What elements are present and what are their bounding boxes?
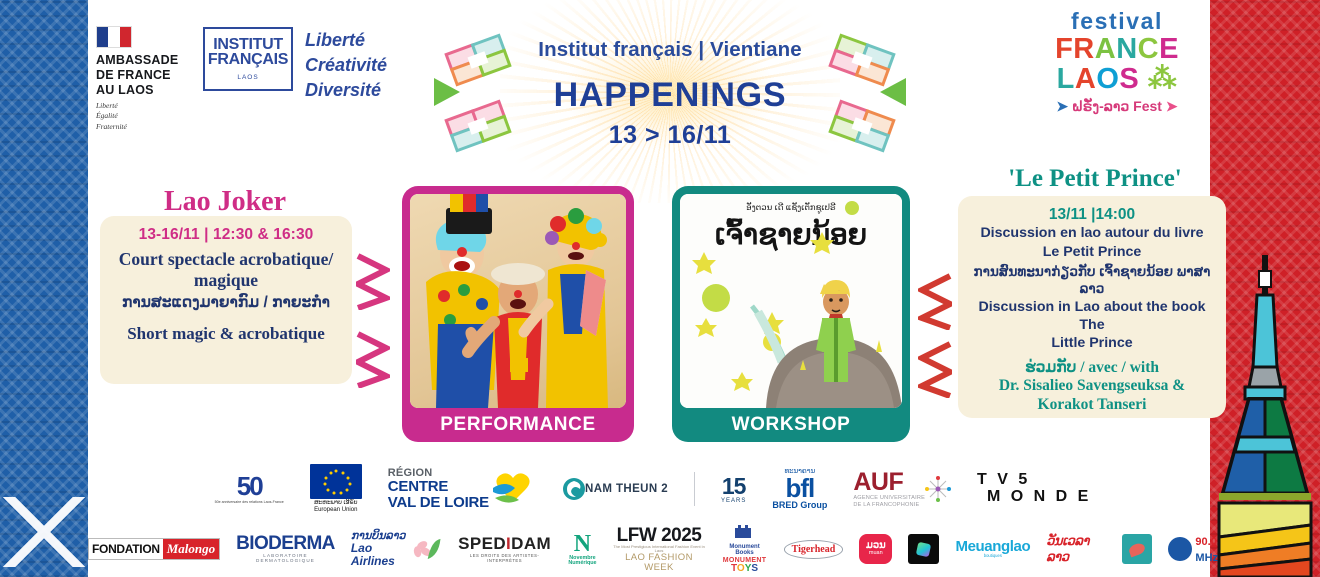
eu-label-lao: ສະຫະພາບ ເອີຣົບ [310, 500, 362, 507]
event-title-le-petit-prince: 'Le Petit Prince' [960, 165, 1230, 193]
event-title-lao-joker: Lao Joker [100, 186, 350, 218]
sponsor-row-primary: 50 50e anniversaire des relations Laos-F… [88, 458, 1218, 520]
sponsor-teal-square-logo [1122, 534, 1152, 564]
institut-values: Liberté Créativité Diversité [305, 28, 387, 102]
lao-textile-border-left [0, 0, 88, 577]
performance-label: PERFORMANCE [410, 408, 626, 442]
plumeria-flower-icon [413, 536, 441, 562]
petit-prince-speaker-2: Korakot Tanseri [970, 396, 1214, 415]
festival-tagline: ➤ ຝຣັ່ງ-ລາວ Fest ➤ [1042, 98, 1192, 115]
sponsor-50th-anniversary: 50 50e anniversaire des relations Laos-F… [215, 473, 284, 505]
french-motto: Liberté Égalité Fraternité [96, 101, 206, 131]
sponsor-meuanglao: Meuanglao boutiques [955, 539, 1030, 558]
institut-francais-logo: INSTITUT FRANÇAIS LAOS [203, 27, 293, 91]
festival-word-laos: LAOS ⁂ [1042, 65, 1192, 95]
title-dates: 13 > 16/11 [420, 121, 920, 150]
petit-prince-en-2: Little Prince [970, 335, 1214, 353]
sponsor-european-union: ສະຫະພາບ ເອີຣົບ European Union [310, 464, 362, 514]
sponsor-divider [694, 472, 695, 506]
petit-prince-fr-2: Le Petit Prince [970, 244, 1214, 262]
lao-joker-fr: Court spectacle acrobatique/ magique [112, 249, 340, 290]
workshop-card[interactable]: ອັງຕວນ ເດີ ແຊັງເຕັກຊູເປຣີ ເຈົ້າຊາຍນ້ອຍ [672, 186, 910, 442]
eu-flag-icon [310, 464, 362, 499]
clown-photo [410, 194, 626, 408]
app-diamond-icon [916, 541, 931, 556]
sponsor-tigerhead: Tigerhead [784, 540, 844, 559]
little-prince-book-cover: ອັງຕວນ ເດີ ແຊັງເຕັກຊູເປຣີ ເຈົ້າຊາຍນ້ອຍ [680, 194, 902, 408]
title-block: Institut français | Vientiane HAPPENINGS… [420, 16, 920, 156]
lao-joker-en: Short magic & acrobatique [112, 324, 340, 344]
eu-label-en: European Union [310, 507, 362, 514]
petit-prince-en-1: Discussion in Lao about the book The [970, 299, 1214, 335]
sponsor-row-secondary: FONDATION Malongo BIODERMA LABORATOIRE D… [88, 524, 1218, 574]
petit-prince-with: ຮ່ວມກັບ / avec / with [970, 358, 1214, 377]
sponsor-tv5-monde: T V 5 M O N D E [977, 472, 1091, 506]
auf-network-icon [925, 476, 951, 502]
sponsor-15-years: 15 YEARS [721, 475, 746, 504]
workshop-label: WORKSHOP [680, 408, 902, 442]
heart-bird-icon [489, 472, 537, 506]
castle-icon [734, 523, 756, 539]
sponsor-radio-90-mhz: 90.0 MHz [1168, 533, 1218, 565]
zigzag-decoration [356, 330, 390, 388]
sponsor-black-app-logo [908, 534, 939, 564]
embassy-name: AMBASSADE DE FRANCE AU LAOS [96, 53, 206, 97]
zigzag-decoration [918, 272, 952, 330]
lao-joker-datetime: 13-16/11 | 12:30 & 16:30 [112, 226, 340, 244]
sponsor-muan: ມວນ muan [859, 534, 892, 564]
page-title: HAPPENINGS [420, 76, 920, 115]
leaf-icon [1128, 541, 1147, 557]
sponsor-monument-toys: Monument Books MONUMENT TOYS [721, 523, 767, 574]
zigzag-decoration [918, 340, 952, 398]
festival-word-france: FRANCE [1042, 35, 1192, 65]
french-flag-icon [96, 26, 132, 48]
sponsor-lao-fashion-week: LFW 2025 The Most Prestigious Internatio… [613, 526, 706, 572]
sponsor-nam-theun-2: NAM THEUN 2 [563, 478, 668, 500]
sponsor-novembre-numerique: N Novembre Numérique [568, 532, 596, 567]
nam-theun-swirl-icon [563, 478, 585, 500]
sponsor-bioderma: BIODERMA LABORATOIRE DERMATOLOGIQUE [236, 534, 335, 563]
event-card-lao-joker: 13-16/11 | 12:30 & 16:30 Court spectacle… [100, 216, 352, 384]
lao-joker-lao: ການສະແດງມາຍາກົມ / ກາຍະກຳ [112, 293, 340, 312]
embassy-of-france-logo: AMBASSADE DE FRANCE AU LAOS Liberté Égal… [96, 26, 206, 132]
performance-card[interactable]: PERFORMANCE [402, 186, 634, 442]
radio-globe-icon [1168, 537, 1192, 561]
eiffel-tower-icon [1215, 237, 1315, 577]
petit-prince-fr-1: Discussion en lao autour du livre [970, 225, 1214, 243]
sponsor-fondation-malongo: FONDATION Malongo [88, 538, 220, 560]
sponsor-region-centre-val-de-loire: RÉGION CENTRE VAL DE LOIRE [388, 468, 537, 510]
zigzag-decoration [356, 252, 390, 310]
petit-prince-speaker-1: Dr. Sisalieo Savengseuksa & [970, 377, 1214, 396]
petit-prince-lao: ການສົນທະນາກ່ຽວກັບ ເຈົ້າຊາຍນ້ອຍ ພາສາລາວ [970, 263, 1214, 298]
poster-root: AMBASSADE DE FRANCE AU LAOS Liberté Égal… [0, 0, 1320, 577]
sponsor-bfl-bred-group: ທະນາຄານ bfl BRED Group [772, 468, 827, 510]
title-subtitle: Institut français | Vientiane [420, 38, 920, 62]
sponsor-lao-airlines: ການບິນລາວ Lao Airlines [351, 531, 441, 568]
petit-prince-datetime: 13/11 |14:00 [970, 206, 1214, 224]
lao-textile-border-right [1210, 0, 1320, 577]
sponsor-auf: AUF AGENCE UNIVERSITAIRE DE LA FRANCOPHO… [853, 470, 951, 509]
festival-france-laos-logo: festival FRANCE LAOS ⁂ ➤ ຝຣັ່ງ-ລາວ Fest … [1042, 10, 1192, 115]
sponsor-lao-red-news: ວັນເວລາລາວ [1046, 533, 1106, 565]
sponsor-spedidam: SPEDIDAM LES DROITS DES ARTISTES-INTERPR… [457, 535, 553, 562]
event-card-le-petit-prince: 13/11 |14:00 Discussion en lao autour du… [958, 196, 1226, 418]
